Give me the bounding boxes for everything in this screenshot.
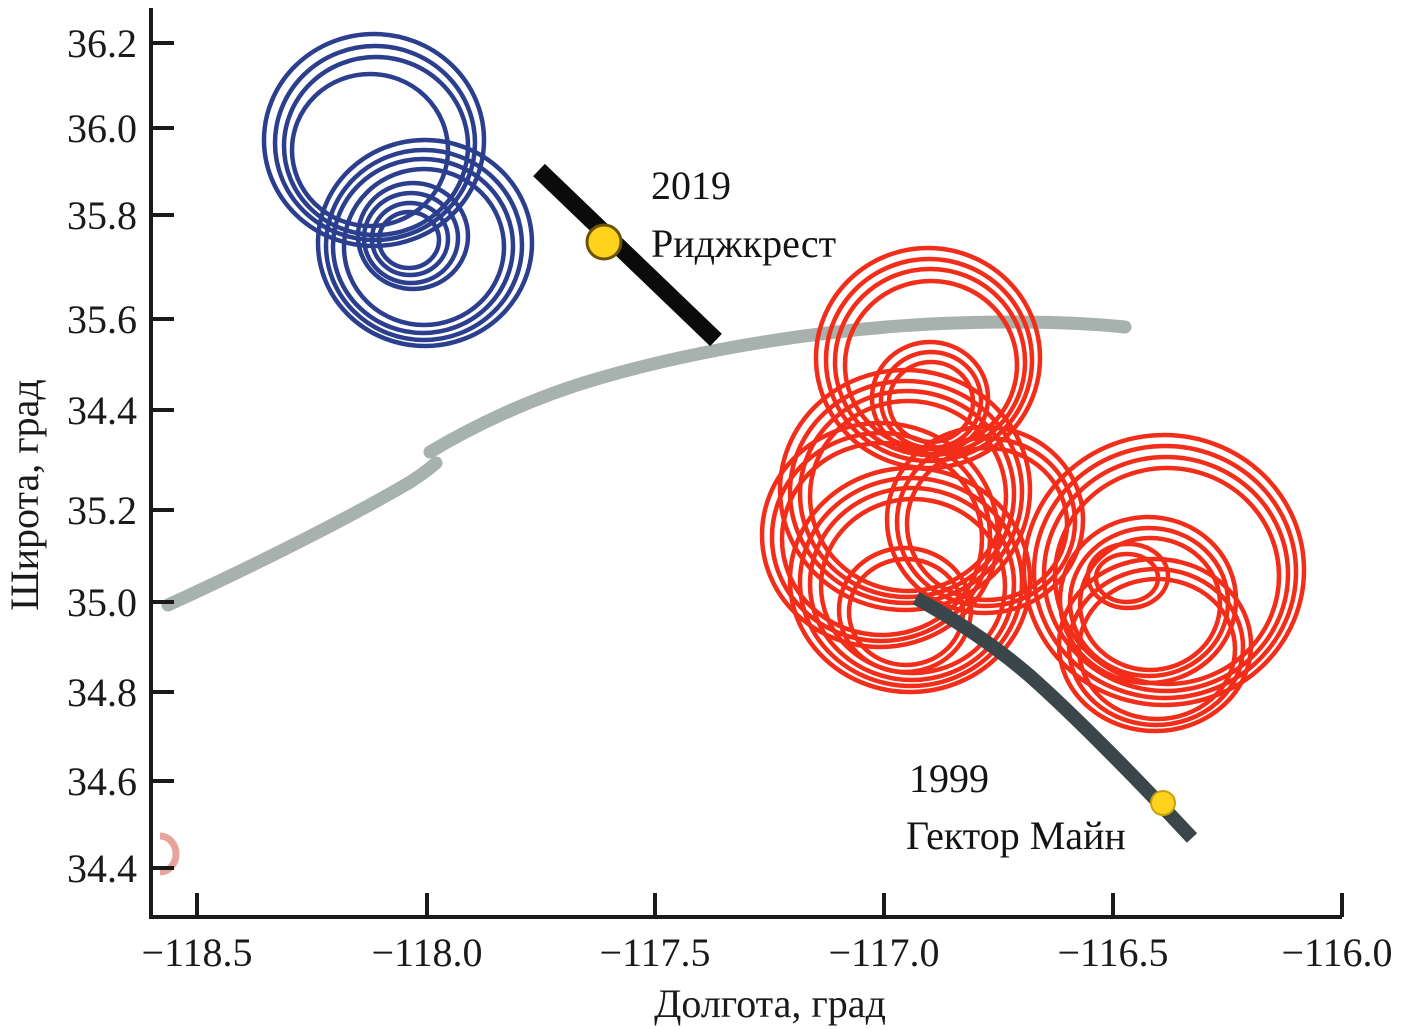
figure-root: 2019 Риджкрест 1999 Гектор Майн 36.2 36.… <box>0 0 1404 1029</box>
x-tick-label: −117.5 <box>599 930 710 975</box>
y-tick-label: 35.0 <box>67 580 137 625</box>
y-tick-label: 36.2 <box>67 21 137 66</box>
x-tick-label: −118.0 <box>371 930 482 975</box>
y-tick-label: 36.0 <box>67 106 137 151</box>
annotation-2019-name: Риджкрест <box>651 221 836 266</box>
annotation-2019-year: 2019 <box>651 163 731 208</box>
y-tick-label: 34.8 <box>67 670 137 715</box>
y-tick-label: 35.8 <box>67 193 137 238</box>
y-tick-label: 34.6 <box>67 759 137 804</box>
seismicity-map-chart: 2019 Риджкрест 1999 Гектор Майн 36.2 36.… <box>0 0 1404 1029</box>
track-line <box>168 322 1125 605</box>
x-axis-tick-labels: −118.5 −118.0 −117.5 −117.0 −116.5 −116.… <box>141 930 1392 975</box>
y-tick-label: 34.4 <box>67 846 137 891</box>
x-axis-title: Долгота, град <box>654 981 886 1026</box>
x-tick-label: −118.5 <box>141 930 252 975</box>
y-tick-label: 35.2 <box>67 488 137 533</box>
x-axis-ticks <box>197 893 1342 917</box>
axis-spines <box>151 8 1342 917</box>
annotation-1999-year: 1999 <box>909 756 989 801</box>
y-axis-ticks <box>151 43 174 868</box>
y-axis-title: Широта, град <box>2 379 47 610</box>
epicenter-marker-1999[interactable] <box>1151 791 1175 815</box>
y-tick-label: 35.6 <box>67 297 137 342</box>
blue-circle-cluster <box>264 34 532 346</box>
x-tick-label: −116.0 <box>1281 930 1392 975</box>
x-tick-label: −117.0 <box>828 930 939 975</box>
x-tick-label: −116.5 <box>1057 930 1168 975</box>
y-axis-tick-labels: 36.2 36.0 35.8 35.6 34.4 35.2 35.0 34.8 … <box>67 21 137 891</box>
annotation-1999-name: Гектор Майн <box>906 813 1126 858</box>
epicenter-marker-2019[interactable] <box>587 225 621 259</box>
y-tick-label: 34.4 <box>67 388 137 433</box>
